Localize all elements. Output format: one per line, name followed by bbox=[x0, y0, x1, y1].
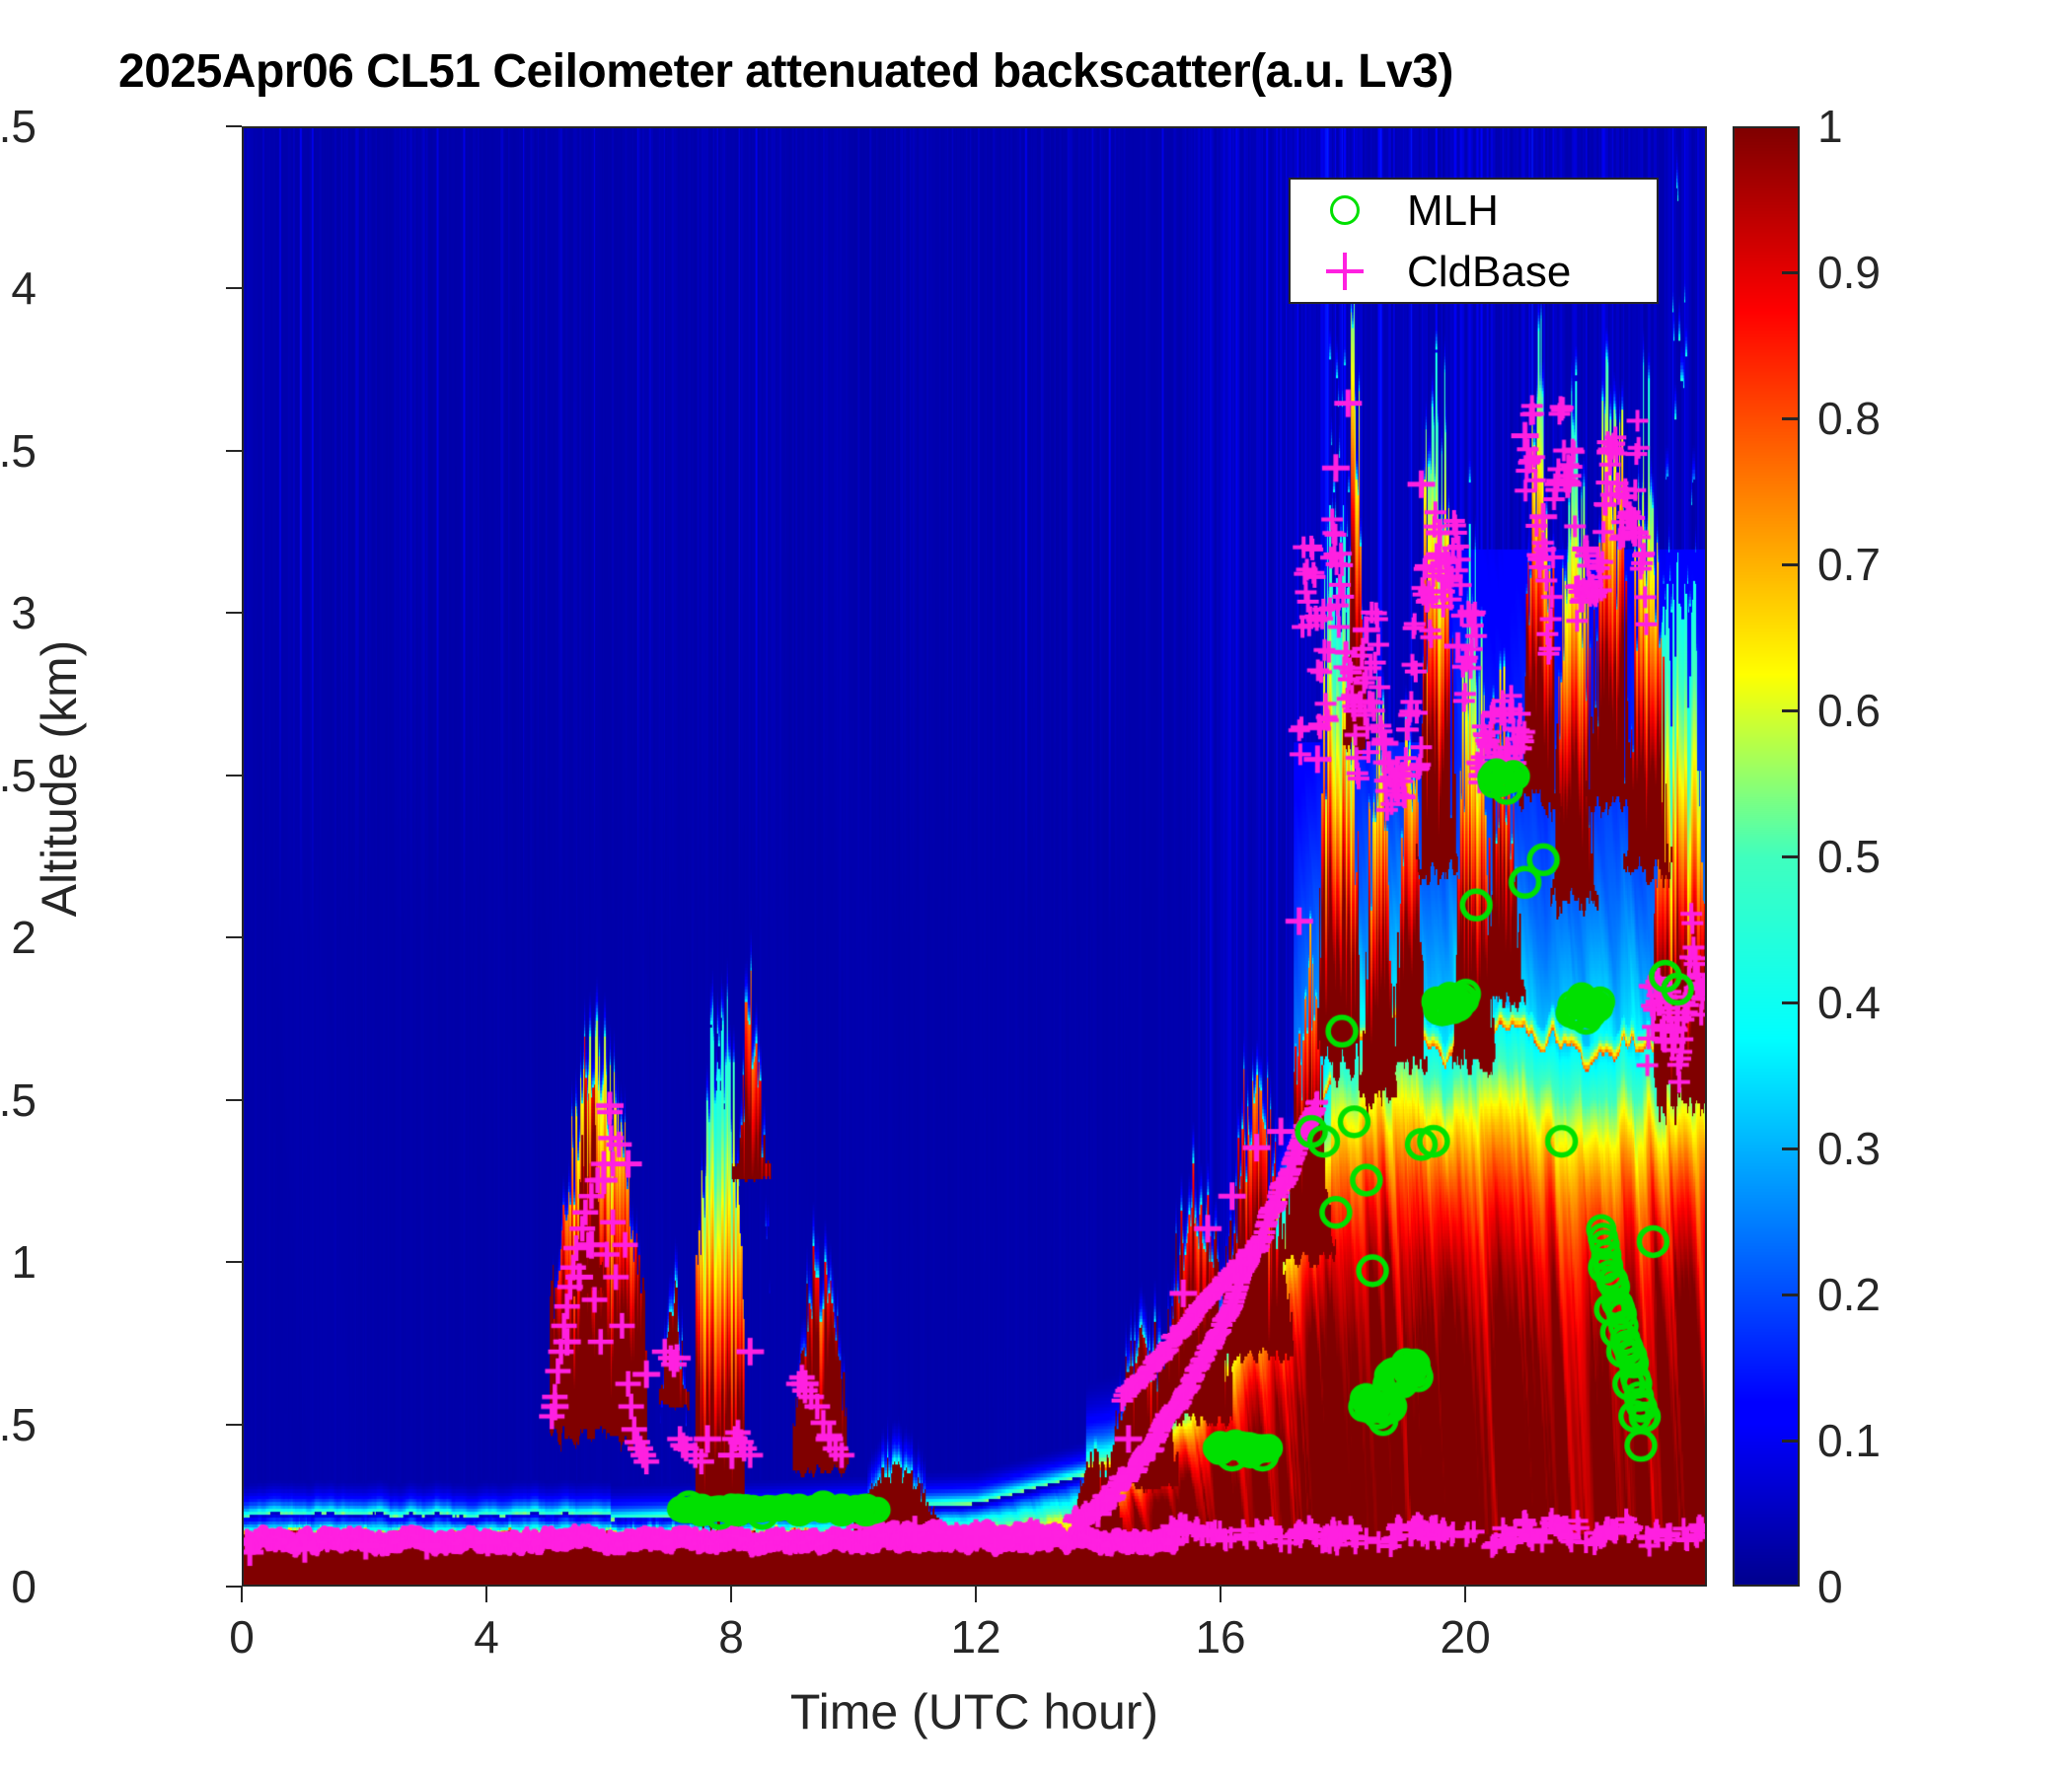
x-tick-label: 20 bbox=[1440, 1610, 1490, 1664]
x-tick-mark bbox=[485, 1587, 487, 1602]
y-tick-label: 0.5 bbox=[0, 1398, 37, 1451]
colorbar-tick-label: 0.3 bbox=[1817, 1122, 1881, 1175]
legend-box: MLH CldBase bbox=[1289, 178, 1659, 304]
y-tick-mark bbox=[226, 612, 242, 614]
colorbar-tick-mark bbox=[1782, 1440, 1800, 1443]
x-axis-label: Time (UTC hour) bbox=[242, 1683, 1707, 1740]
x-tick-label: 4 bbox=[474, 1610, 499, 1664]
colorbar-tick-label: 1 bbox=[1817, 100, 1843, 153]
colorbar-tick-mark bbox=[1782, 563, 1800, 566]
y-tick-mark bbox=[226, 287, 242, 289]
y-tick-mark bbox=[226, 1424, 242, 1426]
y-tick-label: 1 bbox=[11, 1235, 37, 1289]
colorbar-tick-mark bbox=[1782, 1001, 1800, 1004]
y-tick-mark bbox=[226, 1586, 242, 1588]
circle-marker-icon bbox=[1320, 189, 1379, 233]
x-tick-label: 8 bbox=[718, 1610, 744, 1664]
colorbar-tick-label: 0.1 bbox=[1817, 1414, 1881, 1467]
marker-overlay bbox=[244, 128, 1705, 1585]
y-tick-label: 0 bbox=[11, 1560, 37, 1613]
y-tick-mark bbox=[226, 775, 242, 777]
x-tick-mark bbox=[1220, 1587, 1221, 1602]
y-tick-label: 3.5 bbox=[0, 424, 37, 478]
legend-item-mlh[interactable]: MLH bbox=[1291, 180, 1657, 243]
colorbar-tick-label: 0.7 bbox=[1817, 538, 1881, 591]
y-tick-mark bbox=[226, 125, 242, 127]
colorbar-tick-mark bbox=[1782, 709, 1800, 712]
colorbar-tick-mark bbox=[1782, 417, 1800, 420]
y-tick-label: 2.5 bbox=[0, 749, 37, 802]
x-tick-mark bbox=[730, 1587, 732, 1602]
colorbar-tick-label: 0.5 bbox=[1817, 830, 1881, 883]
ceilometer-backscatter-figure: 2025Apr06 CL51 Ceilometer attenuated bac… bbox=[0, 0, 2072, 1776]
y-tick-mark bbox=[226, 1099, 242, 1101]
y-tick-label: 3 bbox=[11, 586, 37, 639]
legend-label-mlh: MLH bbox=[1407, 186, 1499, 236]
x-tick-label: 12 bbox=[950, 1610, 1000, 1664]
colorbar-tick-label: 0 bbox=[1817, 1560, 1843, 1613]
x-tick-label: 0 bbox=[229, 1610, 255, 1664]
colorbar-tick-label: 0.9 bbox=[1817, 246, 1881, 299]
x-tick-label: 16 bbox=[1195, 1610, 1245, 1664]
colorbar-tick-mark bbox=[1782, 855, 1800, 858]
legend-label-cldbase: CldBase bbox=[1407, 248, 1571, 297]
y-tick-label: 2 bbox=[11, 911, 37, 964]
y-tick-label: 1.5 bbox=[0, 1073, 37, 1127]
colorbar-tick-label: 0.2 bbox=[1817, 1268, 1881, 1321]
page-title: 2025Apr06 CL51 Ceilometer attenuated bac… bbox=[118, 44, 1453, 99]
colorbar-tick-label: 0.8 bbox=[1817, 392, 1881, 445]
plot-area[interactable] bbox=[242, 126, 1707, 1587]
y-tick-mark bbox=[226, 936, 242, 938]
y-tick-mark bbox=[226, 450, 242, 452]
colorbar-tick-mark bbox=[1782, 1147, 1800, 1150]
colorbar-tick-mark bbox=[1782, 1294, 1800, 1296]
y-tick-label: 4.5 bbox=[0, 100, 37, 153]
x-tick-mark bbox=[975, 1587, 977, 1602]
plus-marker-icon bbox=[1320, 251, 1379, 294]
x-tick-mark bbox=[241, 1587, 243, 1602]
colorbar-tick-label: 0.6 bbox=[1817, 684, 1881, 737]
x-tick-mark bbox=[1464, 1587, 1466, 1602]
legend-item-cldbase[interactable]: CldBase bbox=[1291, 241, 1657, 304]
y-tick-mark bbox=[226, 1261, 242, 1263]
colorbar-tick-label: 0.4 bbox=[1817, 976, 1881, 1029]
colorbar-tick-mark bbox=[1782, 271, 1800, 274]
y-tick-label: 4 bbox=[11, 261, 37, 315]
y-axis-label: Altitude (km) bbox=[31, 433, 88, 1124]
